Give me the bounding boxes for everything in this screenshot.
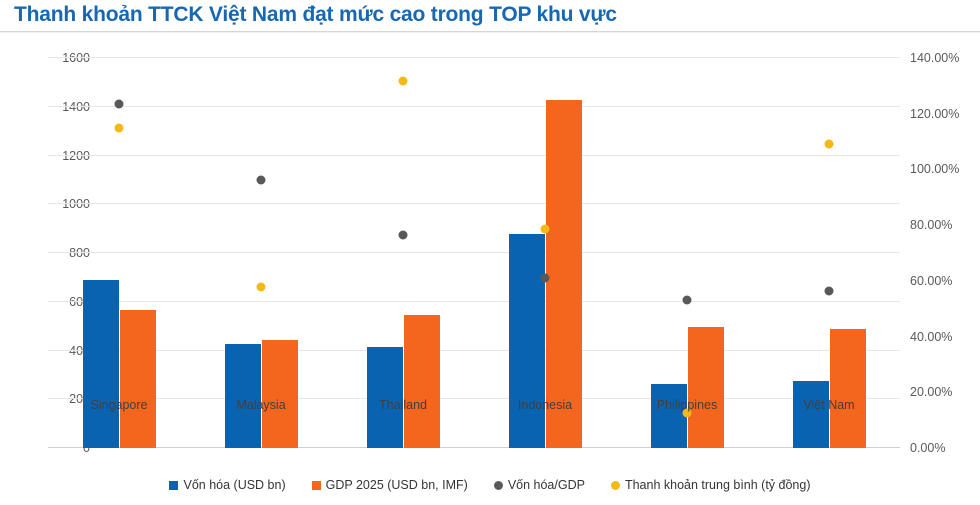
- bar-gdp[interactable]: [404, 315, 440, 448]
- bar-market-cap[interactable]: [651, 384, 687, 448]
- x-axis-tick: Malaysia: [236, 398, 285, 412]
- marker-avg-liquidity[interactable]: [115, 123, 124, 132]
- bar-market-cap[interactable]: [509, 234, 545, 448]
- right-axis-tick: 80.00%: [910, 218, 980, 232]
- right-axis-tick: 20.00%: [910, 385, 980, 399]
- chart-category-group: [190, 58, 332, 448]
- marker-avg-liquidity[interactable]: [399, 77, 408, 86]
- chart-category-group: [48, 58, 190, 448]
- marker-avg-liquidity[interactable]: [257, 283, 266, 292]
- marker-cap-to-gdp[interactable]: [399, 231, 408, 240]
- chart-category-group: [332, 58, 474, 448]
- plot-area: [48, 58, 900, 448]
- chart-category-group: [758, 58, 900, 448]
- bar-market-cap[interactable]: [83, 280, 119, 448]
- title-divider: [0, 31, 980, 33]
- legend-item[interactable]: GDP 2025 (USD bn, IMF): [312, 478, 468, 492]
- marker-cap-to-gdp[interactable]: [115, 99, 124, 108]
- right-axis-tick: 120.00%: [910, 107, 980, 121]
- legend-item[interactable]: Thanh khoản trung bình (tỷ đồng): [611, 478, 811, 492]
- bar-gdp[interactable]: [262, 340, 298, 448]
- right-axis-tick: 40.00%: [910, 330, 980, 344]
- legend-item-label: GDP 2025 (USD bn, IMF): [326, 478, 468, 492]
- marker-cap-to-gdp[interactable]: [541, 274, 550, 283]
- right-axis-tick: 0.00%: [910, 441, 980, 455]
- legend-square-icon: [312, 481, 321, 490]
- legend-item-label: Thanh khoản trung bình (tỷ đồng): [625, 478, 811, 492]
- bar-market-cap[interactable]: [793, 381, 829, 448]
- legend-square-icon: [169, 481, 178, 490]
- bar-gdp[interactable]: [688, 327, 724, 448]
- marker-avg-liquidity[interactable]: [541, 225, 550, 234]
- chart-title: Thanh khoản TTCK Việt Nam đạt mức cao tr…: [14, 3, 617, 27]
- chart-category-group: [474, 58, 616, 448]
- right-axis-tick: 60.00%: [910, 274, 980, 288]
- chart-legend: Vốn hóa (USD bn)GDP 2025 (USD bn, IMF)Vố…: [0, 478, 980, 492]
- x-axis-tick: Thailand: [379, 398, 427, 412]
- marker-avg-liquidity[interactable]: [825, 140, 834, 149]
- right-axis-tick: 100.00%: [910, 162, 980, 176]
- legend-item-label: Vốn hóa/GDP: [508, 478, 585, 492]
- legend-item[interactable]: Vốn hóa (USD bn): [169, 478, 285, 492]
- legend-item[interactable]: Vốn hóa/GDP: [494, 478, 585, 492]
- legend-dot-icon: [611, 481, 620, 490]
- marker-cap-to-gdp[interactable]: [257, 176, 266, 185]
- bar-market-cap[interactable]: [225, 344, 261, 448]
- bar-gdp[interactable]: [120, 310, 156, 448]
- legend-dot-icon: [494, 481, 503, 490]
- x-axis-tick: Philippines: [657, 398, 717, 412]
- marker-cap-to-gdp[interactable]: [683, 296, 692, 305]
- bar-gdp[interactable]: [830, 329, 866, 448]
- x-axis-tick: Singapore: [91, 398, 148, 412]
- x-axis-tick: Việt Nam: [803, 398, 854, 412]
- right-axis-tick: 140.00%: [910, 51, 980, 65]
- legend-item-label: Vốn hóa (USD bn): [183, 478, 285, 492]
- x-axis-tick: Indonesia: [518, 398, 572, 412]
- marker-cap-to-gdp[interactable]: [825, 286, 834, 295]
- bar-gdp[interactable]: [546, 100, 582, 448]
- chart-category-group: [616, 58, 758, 448]
